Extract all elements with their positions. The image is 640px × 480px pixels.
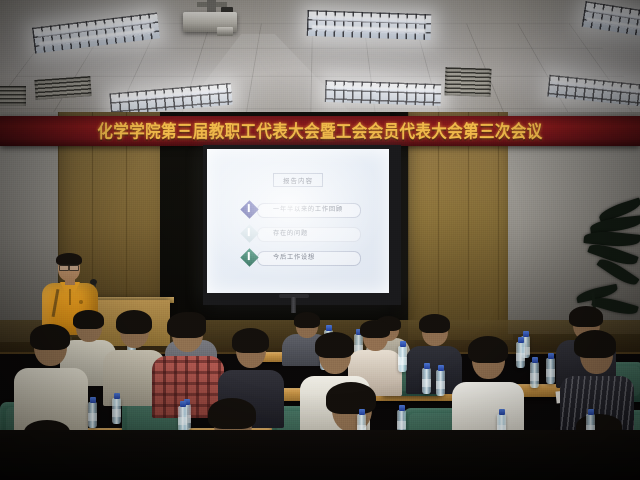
floor-shadow <box>0 430 640 480</box>
ceiling <box>0 0 640 124</box>
water-bottle <box>422 368 431 394</box>
water-bottle <box>436 370 445 396</box>
water-bottle <box>398 346 407 372</box>
projection-screen-frame: 报告内容 一年半以来的工作回顾 存在的问题 今后工作设想 <box>203 145 401 305</box>
water-bottle <box>178 406 187 432</box>
slide-title: 报告内容 <box>273 173 323 187</box>
glasses-icon <box>59 264 79 269</box>
meeting-banner: 化学学院第三届教职工代表大会暨工会会员代表大会第三次会议 <box>0 116 640 146</box>
diamond-marker-icon <box>240 248 258 266</box>
slide-bullet-1-label: 一年半以来的工作回顾 <box>273 204 343 213</box>
water-bottle <box>112 398 121 424</box>
meeting-room-photo: 化学学院第三届教职工代表大会暨工会会员代表大会第三次会议 报告内容 一年半以来的… <box>0 0 640 480</box>
slide-bullet-2-label: 存在的问题 <box>273 228 308 237</box>
diamond-marker-icon <box>240 200 258 218</box>
audience-person <box>14 324 88 426</box>
slide-bullet-3-label: 今后工作设想 <box>273 252 315 261</box>
water-bottle <box>530 362 539 388</box>
ceiling-projector <box>183 0 237 42</box>
water-bottle <box>546 358 555 384</box>
audience-person <box>452 336 524 440</box>
diamond-marker-icon <box>240 224 258 242</box>
banner-text: 化学学院第三届教职工代表大会暨工会会员代表大会第三次会议 <box>97 119 542 144</box>
projection-screen: 报告内容 一年半以来的工作回顾 存在的问题 今后工作设想 <box>207 149 389 293</box>
